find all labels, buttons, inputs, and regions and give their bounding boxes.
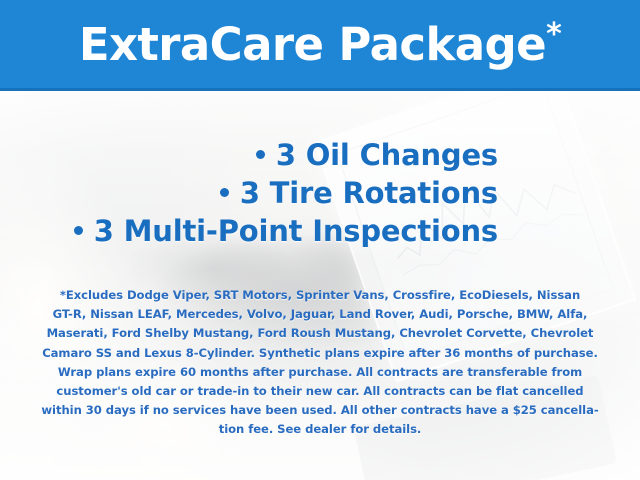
bullet-dot-icon xyxy=(220,188,229,197)
disclaimer-line: Camaro SS and Lexus 8-Cylinder. Syntheti… xyxy=(28,344,612,363)
header-banner: ExtraCare Package* xyxy=(0,0,640,91)
disclaimer-line: within 30 days if no services have been … xyxy=(28,401,612,420)
benefit-item-tire-rotations: 3 Tire Rotations xyxy=(0,174,498,212)
benefit-item-oil-changes: 3 Oil Changes xyxy=(0,136,498,174)
disclaimer-line: Maserati, Ford Shelby Mustang, Ford Rous… xyxy=(28,324,612,343)
bullet-dot-icon xyxy=(74,226,83,235)
disclaimer-text: *Excludes Dodge Viper, SRT Motors, Sprin… xyxy=(28,286,612,440)
disclaimer-line: Wrap plans expire 60 months after purcha… xyxy=(28,363,612,382)
benefit-label: 3 Multi-Point Inspections xyxy=(94,214,498,248)
benefit-label: 3 Oil Changes xyxy=(276,138,498,172)
disclaimer-line: *Excludes Dodge Viper, SRT Motors, Sprin… xyxy=(28,286,612,305)
bullet-dot-icon xyxy=(256,150,265,159)
page-title-text: ExtraCare Package xyxy=(79,18,546,71)
page-title: ExtraCare Package* xyxy=(79,22,561,67)
benefit-label: 3 Tire Rotations xyxy=(240,176,498,210)
disclaimer-line: GT-R, Nissan LEAF, Mercedes, Volvo, Jagu… xyxy=(28,305,612,324)
extracare-package-ad: ExtraCare Package* 3 Oil Changes 3 Tire … xyxy=(0,0,640,480)
disclaimer-line: tion fee. See dealer for details. xyxy=(28,420,612,439)
benefits-list: 3 Oil Changes 3 Tire Rotations 3 Multi-P… xyxy=(0,136,640,250)
benefit-item-multi-point-inspections: 3 Multi-Point Inspections xyxy=(0,212,498,250)
disclaimer-line: customer's old car or trade-in to their … xyxy=(28,382,612,401)
page-title-asterisk: * xyxy=(546,17,561,52)
